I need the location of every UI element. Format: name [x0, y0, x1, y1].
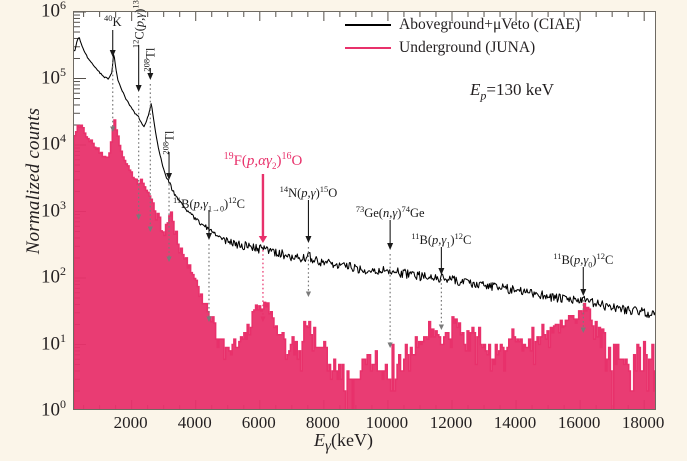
legend: Aboveground+μVeto (CIAE) Underground (JU… — [345, 14, 580, 60]
x-tick-label-14000: 14000 — [494, 413, 537, 433]
x-tick-label-16000: 16000 — [558, 413, 601, 433]
annotation-label-b11g10: 11B(p,γ1→0)12C — [173, 196, 245, 214]
annotation-label-n14: 14N(p,γ)15O — [280, 185, 338, 200]
annotation-label-c12: 12C(p,γ)13N — [131, 0, 146, 48]
beam-energy-label: Ep=130 keV — [470, 80, 554, 103]
legend-swatch-aboveground — [345, 24, 391, 26]
x-axis-symbol: E — [314, 430, 325, 450]
y-tick-label-1e0: 100 — [0, 397, 66, 421]
annotation-label-tl208b: 208Tl — [161, 131, 176, 155]
y-tick-label-1e4: 104 — [0, 131, 66, 155]
y-tick-label-1e1: 101 — [0, 331, 66, 355]
annotation-label-ge73: 73Ge(n,γ)74Ge — [356, 205, 425, 220]
annotation-label-tl208a: 208Tl — [143, 48, 158, 72]
legend-item-underground: Underground (JUNA) — [345, 37, 580, 58]
beam-energy-value: =130 keV — [486, 80, 554, 99]
y-tick-label-1e5: 105 — [0, 65, 66, 89]
x-tick-label-4000: 4000 — [178, 413, 212, 433]
annotation-label-b11g0: 11B(p,γ0)12C — [553, 252, 613, 270]
x-axis-unit: (keV) — [331, 430, 373, 450]
y-tick-label-1e6: 106 — [0, 0, 66, 22]
legend-label-aboveground: Aboveground+μVeto (CIAE) — [399, 14, 580, 35]
x-tick-label-18000: 18000 — [622, 413, 665, 433]
x-axis-label: Eγ(keV) — [0, 430, 687, 456]
legend-swatch-underground — [345, 47, 391, 49]
legend-label-underground: Underground (JUNA) — [399, 37, 535, 58]
x-tick-label-6000: 6000 — [242, 413, 276, 433]
x-tick-label-8000: 8000 — [306, 413, 340, 433]
x-tick-label-12000: 12000 — [430, 413, 473, 433]
annotation-label-b11g1: 11B(p,γ1)12C — [411, 232, 471, 250]
annotation-label-f19: 19F(p,αγ2)16O — [224, 152, 303, 171]
legend-item-aboveground: Aboveground+μVeto (CIAE) — [345, 14, 580, 35]
x-tick-label-10000: 10000 — [366, 413, 409, 433]
x-tick-label-2000: 2000 — [114, 413, 148, 433]
y-tick-label-1e3: 103 — [0, 198, 66, 222]
beam-energy-symbol: E — [470, 80, 480, 99]
y-tick-label-1e2: 102 — [0, 264, 66, 288]
annotation-label-k40: 40K — [104, 14, 122, 29]
